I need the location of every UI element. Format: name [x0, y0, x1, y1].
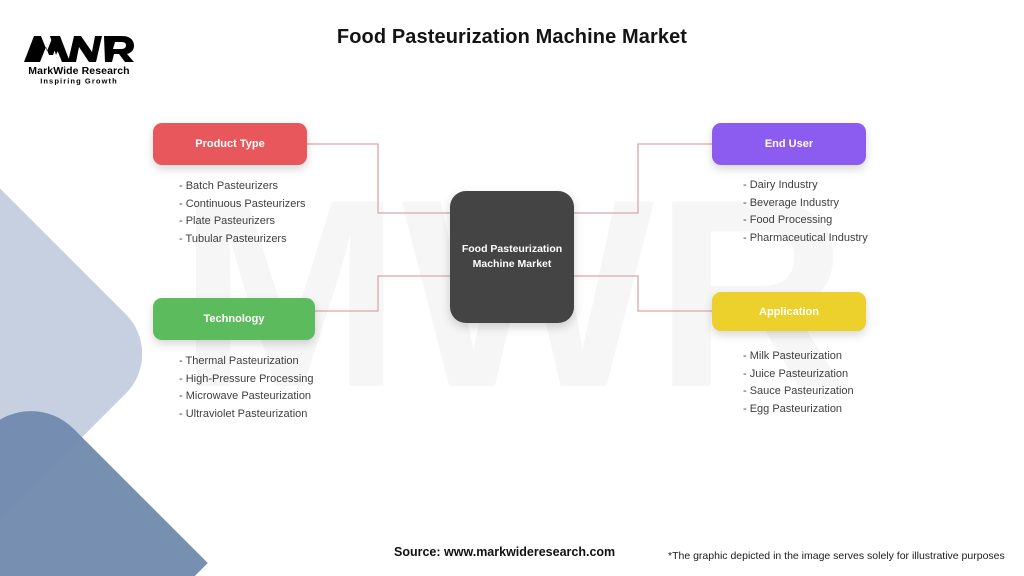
- branch-product-type: Product Type - Batch Pasteurizers - Cont…: [153, 123, 307, 248]
- list-item: - Plate Pasteurizers: [179, 213, 307, 231]
- branch-header-end-user[interactable]: End User: [712, 123, 866, 165]
- branch-list-technology: - Thermal Pasteurization - High-Pressure…: [153, 353, 315, 423]
- list-item: - Tubular Pasteurizers: [179, 231, 307, 249]
- list-item: - Microwave Pasteurization: [179, 388, 315, 406]
- list-item: - Milk Pasteurization: [743, 348, 866, 366]
- connector-end-user: [574, 144, 712, 213]
- source-attribution: Source: www.markwideresearch.com: [394, 545, 615, 559]
- connector-application: [574, 276, 712, 311]
- branch-end-user: End User - Dairy Industry - Beverage Ind…: [712, 123, 868, 247]
- list-item: - Batch Pasteurizers: [179, 178, 307, 196]
- center-node-line2: Machine Market: [473, 258, 552, 270]
- list-item: - Beverage Industry: [743, 195, 868, 213]
- branch-list-application: - Milk Pasteurization - Juice Pasteuriza…: [712, 348, 866, 418]
- branch-label-product-type: Product Type: [195, 138, 264, 150]
- branch-application: Application - Milk Pasteurization - Juic…: [712, 292, 866, 418]
- list-item: - Dairy Industry: [743, 177, 868, 195]
- list-item: - Egg Pasteurization: [743, 401, 866, 419]
- list-item: - Thermal Pasteurization: [179, 353, 315, 371]
- center-node-line1: Food Pasteurization: [462, 243, 562, 255]
- connector-technology: [315, 276, 450, 311]
- list-item: - Ultraviolet Pasteurization: [179, 406, 315, 424]
- connector-product-type: [307, 144, 450, 213]
- branch-list-end-user: - Dairy Industry - Beverage Industry - F…: [712, 177, 868, 247]
- branch-header-product-type[interactable]: Product Type: [153, 123, 307, 165]
- branch-label-end-user: End User: [765, 138, 813, 150]
- list-item: - Sauce Pasteurization: [743, 383, 866, 401]
- branch-label-technology: Technology: [204, 313, 265, 325]
- list-item: - Pharmaceutical Industry: [743, 230, 868, 248]
- branch-label-application: Application: [759, 306, 819, 318]
- center-node[interactable]: Food Pasteurization Machine Market: [450, 191, 574, 323]
- list-item: - Food Processing: [743, 212, 868, 230]
- list-item: - Continuous Pasteurizers: [179, 196, 307, 214]
- branch-header-application[interactable]: Application: [712, 292, 866, 331]
- branch-header-technology[interactable]: Technology: [153, 298, 315, 340]
- list-item: - Juice Pasteurization: [743, 366, 866, 384]
- branch-list-product-type: - Batch Pasteurizers - Continuous Pasteu…: [153, 178, 307, 248]
- disclaimer-note: *The graphic depicted in the image serve…: [668, 550, 1005, 562]
- branch-technology: Technology - Thermal Pasteurization - Hi…: [153, 298, 315, 423]
- infographic-canvas: MWR MarkWide Research Inspiring Growth F…: [0, 0, 1024, 576]
- list-item: - High-Pressure Processing: [179, 371, 315, 389]
- center-node-label: Food Pasteurization Machine Market: [456, 242, 568, 272]
